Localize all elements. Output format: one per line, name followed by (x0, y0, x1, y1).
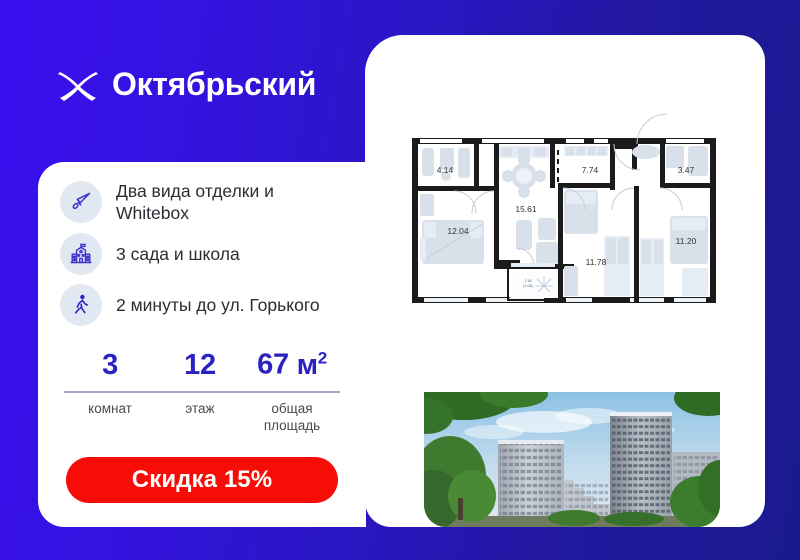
stat-label-floor: этаж (156, 401, 244, 418)
feature-list: Два вида отделки и Whitebox (60, 180, 344, 326)
pedestrian-icon (60, 284, 102, 326)
stats-labels: комнат этаж общая площадь (64, 393, 340, 435)
feature-item-finishing: Два вида отделки и Whitebox (60, 180, 344, 224)
balcony-area-calc: (1.08) (523, 284, 532, 288)
building-photo (424, 392, 720, 527)
brand-logo[interactable]: Октябрьский (58, 66, 316, 103)
stats-values: 3 12 67 м2 (64, 348, 340, 391)
floor-plan: .wall { fill:#1b1b1b; } .furn { fill:#d8… (398, 108, 730, 320)
stat-value-floor: 12 (156, 349, 244, 382)
feature-label: 2 минуты до ул. Горького (116, 294, 320, 316)
stat-number: 3 (102, 349, 118, 381)
room-area-4-14: 4.14 (437, 165, 454, 175)
room-area-15-61: 15.61 (515, 204, 537, 214)
room-area-3-47: 3.47 (678, 165, 695, 175)
stats-block: 3 12 67 м2 комнат этаж общая площадь (60, 348, 344, 434)
x-mark-icon (58, 68, 98, 102)
room-area-7-74: 7.74 (582, 165, 599, 175)
feature-label: 3 сада и школа (116, 243, 240, 265)
stat-value-rooms: 3 (64, 349, 156, 382)
feature-item-transport: 2 минуты до ул. Горького (60, 284, 344, 326)
room-area-12-04: 12.04 (447, 226, 469, 236)
balcony-area: 2.16 (525, 279, 532, 283)
stat-unit: м2 (297, 349, 327, 381)
school-icon (60, 233, 102, 275)
trowel-icon (60, 181, 102, 223)
feature-label: Два вида отделки и Whitebox (116, 180, 331, 224)
stat-label-area: общая площадь (244, 401, 340, 435)
room-area-11-78: 11.78 (586, 257, 607, 267)
brand-name: Октябрьский (112, 66, 316, 103)
stat-label-rooms: комнат (64, 401, 156, 418)
room-area-11-20: 11.20 (676, 236, 697, 246)
stat-number: 12 (184, 349, 216, 381)
feature-item-school: 3 сада и школа (60, 233, 344, 275)
discount-button[interactable]: Скидка 15% (66, 457, 338, 503)
stat-value-area: 67 м2 (244, 348, 340, 382)
stat-number: 67 (257, 349, 289, 381)
